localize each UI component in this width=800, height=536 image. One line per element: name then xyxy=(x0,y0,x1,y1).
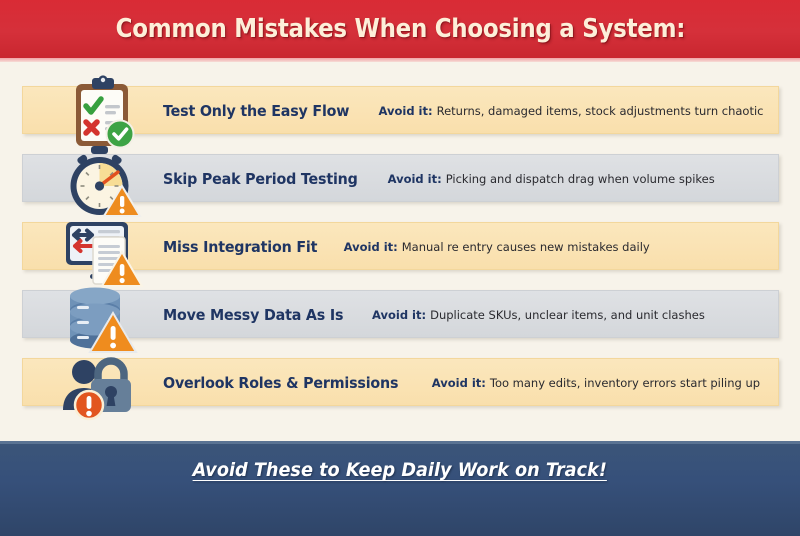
row-headline: Move Messy Data As Is xyxy=(163,306,343,324)
row-text-group: Skip Peak Period Testing Avoid it: Picki… xyxy=(163,155,715,203)
list-item: Overlook Roles & Permissions Avoid it: T… xyxy=(22,358,779,406)
list-item: Miss Integration Fit Avoid it: Manual re… xyxy=(22,222,779,270)
row-headline: Overlook Roles & Permissions xyxy=(163,374,398,392)
row-text-group: Move Messy Data As Is Avoid it: Duplicat… xyxy=(163,291,705,339)
footer-banner: Avoid These to Keep Daily Work on Track! xyxy=(0,441,800,536)
list-item: Skip Peak Period Testing Avoid it: Picki… xyxy=(22,154,779,202)
header-banner: Common Mistakes When Choosing a System: xyxy=(0,0,800,61)
list-item: Test Only the Easy Flow Avoid it: Return… xyxy=(22,86,779,134)
row-headline: Skip Peak Period Testing xyxy=(163,170,358,188)
infographic-poster: Common Mistakes When Choosing a System: … xyxy=(0,0,800,533)
header-divider xyxy=(0,58,800,62)
row-headline: Miss Integration Fit xyxy=(163,238,317,256)
avoid-label: Avoid it: xyxy=(432,376,486,390)
footer-callout-text: Avoid These to Keep Daily Work on Track! xyxy=(193,459,607,481)
row-headline: Test Only the Easy Flow xyxy=(163,102,349,120)
avoid-label: Avoid it: xyxy=(378,104,432,118)
list-item: Move Messy Data As Is Avoid it: Duplicat… xyxy=(22,290,779,338)
footer-inner: Avoid These to Keep Daily Work on Track! xyxy=(0,444,800,496)
avoid-label: Avoid it: xyxy=(388,172,442,186)
page-title: Common Mistakes When Choosing a System: xyxy=(115,14,684,44)
row-text-group: Test Only the Easy Flow Avoid it: Return… xyxy=(163,87,764,135)
avoid-description: Picking and dispatch drag when volume sp… xyxy=(446,172,715,186)
avoid-label: Avoid it: xyxy=(372,308,426,322)
avoid-label: Avoid it: xyxy=(344,240,398,254)
row-text-group: Miss Integration Fit Avoid it: Manual re… xyxy=(163,223,650,271)
avoid-description: Duplicate SKUs, unclear items, and unit … xyxy=(430,308,705,322)
avoid-description: Manual re entry causes new mistakes dail… xyxy=(402,240,650,254)
row-text-group: Overlook Roles & Permissions Avoid it: T… xyxy=(163,359,760,407)
avoid-description: Too many edits, inventory errors start p… xyxy=(490,376,760,390)
avoid-description: Returns, damaged items, stock adjustment… xyxy=(437,104,764,118)
